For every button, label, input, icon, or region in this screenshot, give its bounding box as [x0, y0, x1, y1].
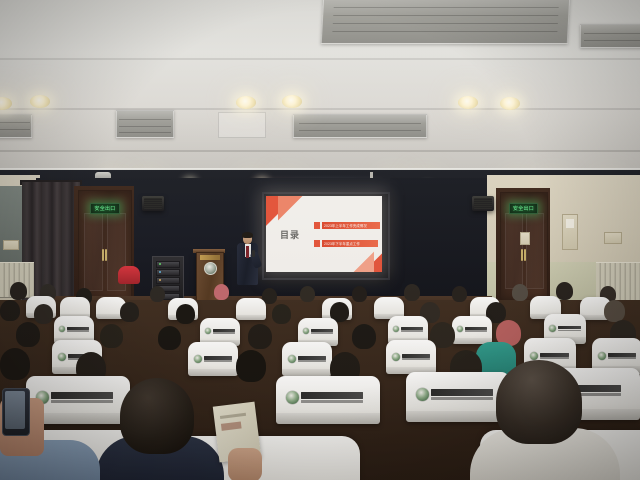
school-emblem-icon: [416, 388, 429, 401]
ac-vent: [321, 0, 571, 44]
ac-vent: [116, 110, 174, 138]
audience-head: [150, 286, 165, 302]
school-emblem-icon: [59, 326, 65, 332]
notice-board-right: [562, 214, 578, 250]
slide-agenda-item: 2023年下半年重点工作: [314, 240, 378, 247]
wall-plaque-right: [604, 232, 622, 244]
audience-head: [512, 284, 528, 301]
school-emblem-icon: [58, 353, 66, 361]
audience-head: [556, 282, 573, 300]
seat-chair-cover: [188, 342, 238, 376]
seat-chair-cover: [236, 298, 266, 320]
seat-chair-cover: [386, 340, 436, 374]
school-emblem-icon: [598, 352, 606, 360]
ac-vent: [293, 114, 427, 138]
audience-head: [604, 300, 625, 322]
school-emblem-icon: [288, 355, 296, 363]
slide-corner-accent: [278, 196, 318, 228]
ceiling-seam: [0, 150, 640, 152]
audience-head: [352, 286, 367, 302]
audience-head: [0, 348, 30, 380]
audience-head: [404, 284, 420, 301]
ceiling-seam: [0, 58, 640, 60]
ceiling-downlight: [282, 95, 302, 108]
red-bag: [118, 266, 140, 284]
wall-speaker-left: [142, 196, 164, 211]
exit-sign-left-label: 安全出口: [94, 205, 115, 212]
projection-screen: 目录 2023年上半年工作完成情况 2023年下半年重点工作: [266, 196, 382, 272]
seat-chair-cover: [452, 316, 492, 344]
audience-head: [120, 302, 139, 322]
school-emblem-icon: [303, 328, 309, 334]
school-emblem-icon: [457, 326, 463, 332]
door-sign-right: [520, 232, 530, 245]
seat-chair-cover: [282, 342, 332, 376]
exit-sign-left: 安全出口: [90, 203, 120, 214]
school-emblem-icon: [205, 328, 211, 334]
foreground-person-head: [496, 360, 582, 444]
slide-bullet-icon: [314, 222, 320, 229]
audience-head: [0, 300, 20, 321]
school-emblem-icon: [549, 325, 556, 332]
ceiling-downlight: [236, 96, 256, 109]
presentation-slide: 目录 2023年上半年工作完成情况 2023年下半年重点工作: [266, 196, 382, 272]
smartphone-screen[interactable]: [5, 391, 25, 429]
audience-head: [10, 282, 27, 300]
foreground-person-head: [120, 378, 194, 454]
seat-chair-cover: [276, 376, 380, 424]
exit-sign-right-label: 安全出口: [513, 205, 534, 212]
foreground-hand: [228, 448, 262, 480]
ceiling-seam: [0, 108, 640, 110]
audience-head: [236, 350, 266, 382]
ceiling-downlight: [458, 96, 478, 109]
ac-vent: [0, 114, 32, 138]
seat-chair-cover: [406, 372, 510, 422]
audience-head: [158, 326, 181, 350]
school-emblem-icon: [530, 352, 538, 360]
slide-corner-accent: [342, 248, 374, 272]
audience-head: [272, 304, 291, 324]
exit-sign-right: 安全出口: [509, 203, 538, 214]
audience-head: [214, 284, 229, 300]
wall-plaque-left: [3, 240, 19, 250]
slide-agenda-item-label: 2023年下半年重点工作: [324, 241, 360, 246]
lecture-hall-photo: 安全出口 安全出口 目录: [0, 0, 640, 480]
school-emblem-icon: [204, 262, 217, 275]
ac-vent: [580, 24, 640, 48]
ceiling-downlight: [30, 95, 50, 108]
audience-head: [352, 324, 376, 349]
audience-head: [300, 286, 315, 302]
audience-head: [100, 324, 123, 348]
podium-nameplate: [200, 255, 220, 260]
slide-title: 目录: [280, 228, 300, 241]
microphone-icon: [252, 250, 255, 257]
audience-head: [452, 286, 467, 302]
audience-head: [34, 304, 53, 324]
slide-agenda-item-label: 2023年上半年工作完成情况: [324, 223, 367, 228]
audience-head: [16, 322, 40, 347]
presenter-tie: [246, 246, 249, 258]
audience-head: [248, 324, 272, 349]
school-emblem-icon: [194, 355, 202, 363]
slide-agenda-item: 2023年上半年工作完成情况: [314, 222, 380, 229]
school-emblem-icon: [392, 353, 400, 361]
school-emblem-icon: [286, 391, 299, 404]
wall-speaker-right: [472, 196, 494, 211]
ceiling-downlight: [500, 97, 520, 110]
school-emblem-icon: [393, 326, 399, 332]
audience-head: [176, 304, 195, 324]
slide-bullet-icon: [314, 240, 320, 247]
presenter-hair: [242, 232, 253, 238]
ceiling-access-panel: [218, 112, 266, 138]
